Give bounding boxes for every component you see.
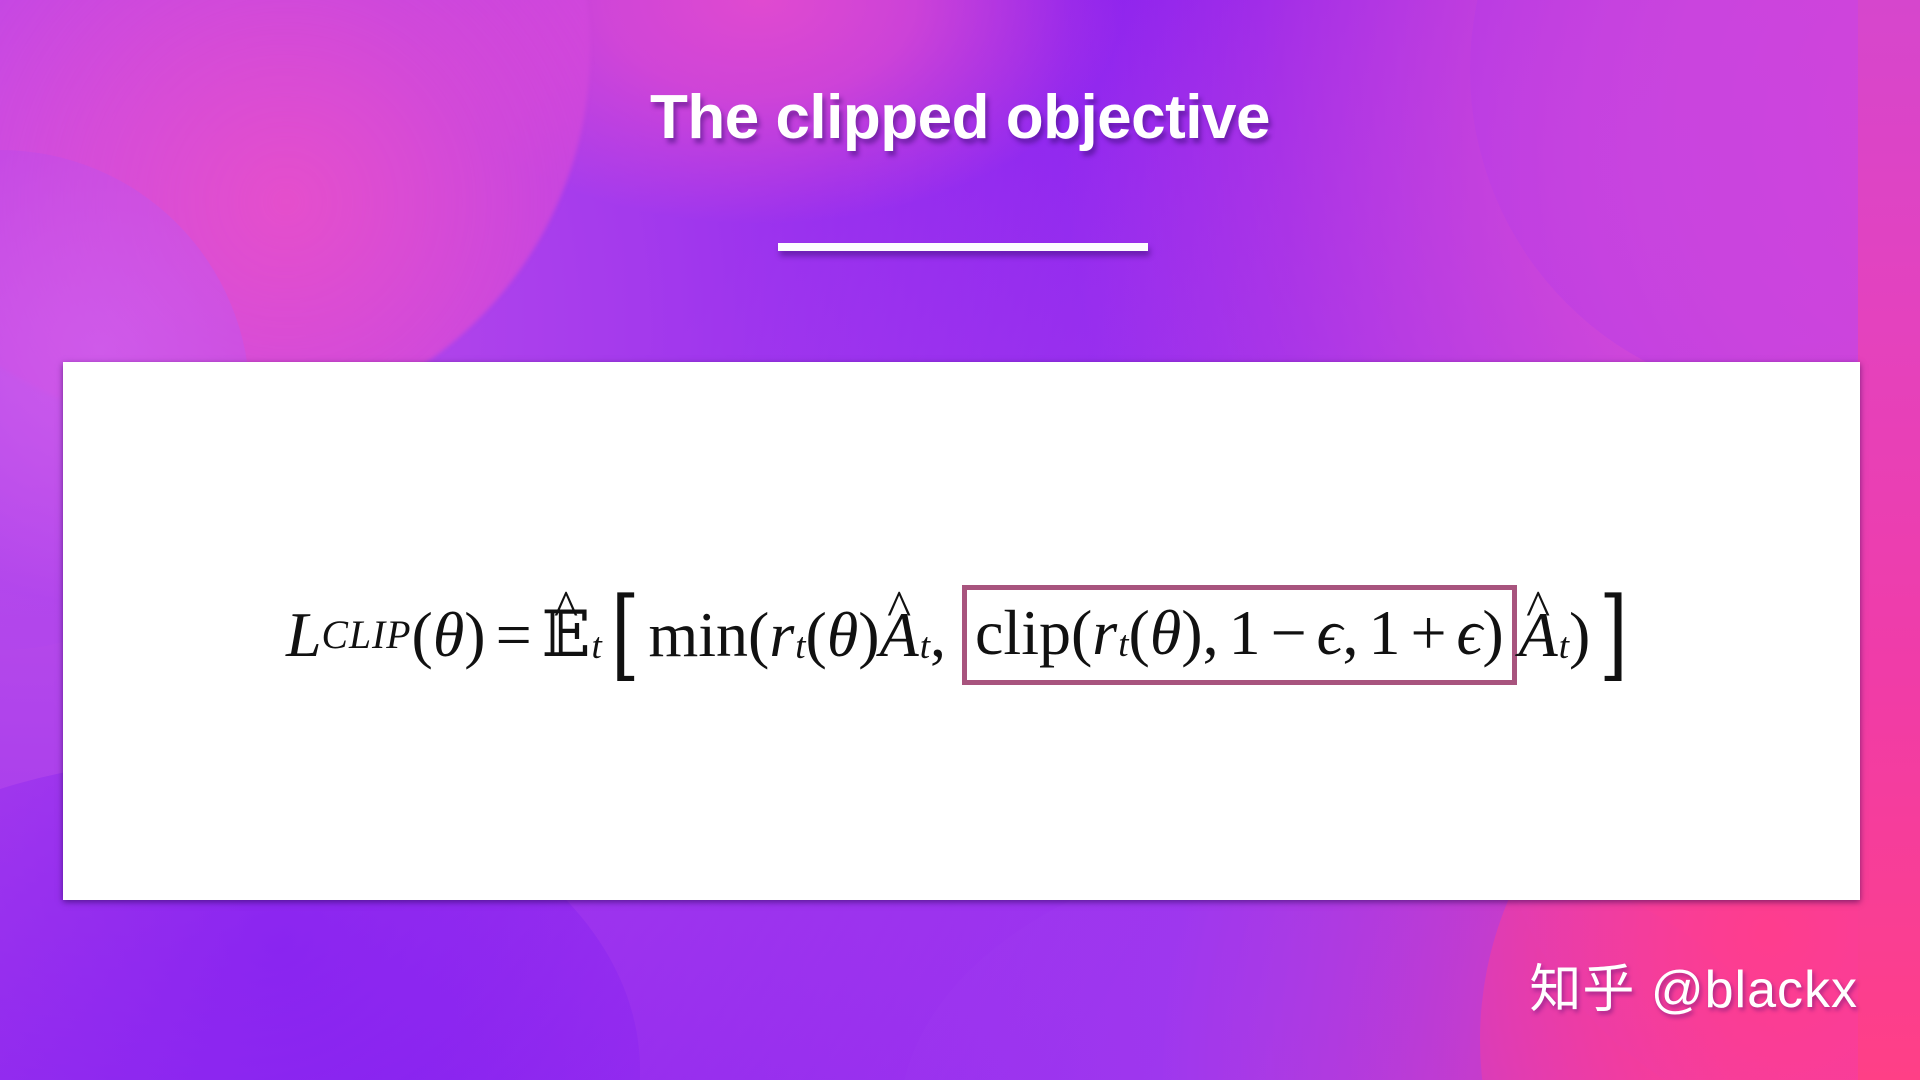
slide-canvas: The clipped objective LCLIP(θ) = ^𝔼t [ m… <box>0 0 1920 1080</box>
formula-lhs-close-paren: ) <box>464 598 485 672</box>
watermark-handle: @blackx <box>1651 961 1858 1019</box>
watermark-platform: 知乎 <box>1529 960 1635 1020</box>
expectation-hat-accent: ^ <box>554 583 578 634</box>
ratio-close-paren-1: ) <box>858 598 879 672</box>
formula-theta: θ <box>433 598 464 672</box>
clip-operator: clip <box>975 596 1071 670</box>
advantage-subscript-2: t <box>1559 625 1569 668</box>
clip-separator-1: , <box>1203 596 1219 670</box>
formula-loss-superscript: CLIP <box>322 612 412 658</box>
advantage-subscript-1: t <box>920 625 930 668</box>
formula-expectation-operator: ^𝔼 <box>542 598 591 672</box>
advantage-symbol-2: ^A <box>1519 598 1558 672</box>
ratio-theta-2: θ <box>1150 596 1181 670</box>
lower-bound-operator: − <box>1271 596 1307 670</box>
upper-bound-epsilon: ϵ <box>1457 596 1483 670</box>
formula-min-separator: , <box>930 598 946 672</box>
formula-lhs-open-paren: ( <box>412 598 433 672</box>
decorative-blob-top-right <box>1470 0 1920 400</box>
advantage-symbol-1: ^A <box>880 598 919 672</box>
advantage-hat-accent-1: ^ <box>887 583 911 634</box>
ratio-close-paren-2: ) <box>1181 596 1202 670</box>
ratio-subscript-2: t <box>1118 623 1128 666</box>
formula-min-operator: min <box>648 598 748 672</box>
ratio-subscript-1: t <box>795 625 805 668</box>
clip-separator-2: , <box>1342 596 1358 670</box>
ratio-theta-1: θ <box>827 598 858 672</box>
ratio-open-paren-2: ( <box>1129 596 1150 670</box>
clip-open-paren: ( <box>1071 596 1092 670</box>
ratio-symbol-2: r <box>1092 596 1117 670</box>
clipped-objective-formula: LCLIP(θ) = ^𝔼t [ min(rt(θ)^At, clip(rt(θ… <box>286 585 1637 685</box>
decorative-right-edge-band <box>1858 0 1920 1080</box>
advantage-hat-accent-2: ^ <box>1526 583 1550 634</box>
formula-min-open-paren: ( <box>748 598 769 672</box>
page-title: The clipped objective <box>0 84 1920 152</box>
formula-card: LCLIP(θ) = ^𝔼t [ min(rt(θ)^At, clip(rt(θ… <box>63 362 1860 900</box>
formula-bracket-close: ] <box>1599 595 1628 674</box>
expectation-subscript: t <box>591 625 601 668</box>
formula-bracket-open: [ <box>611 595 640 674</box>
ratio-open-paren-1: ( <box>806 598 827 672</box>
formula-equals-sign: = <box>496 598 532 672</box>
lower-bound-epsilon: ϵ <box>1317 596 1343 670</box>
formula-loss-symbol: L <box>286 598 322 672</box>
upper-bound-operator: + <box>1410 596 1446 670</box>
formula-min-close-paren: ) <box>1569 598 1590 672</box>
title-divider <box>778 243 1148 251</box>
lower-bound-one: 1 <box>1229 596 1261 670</box>
watermark: 知乎 @blackx <box>1529 947 1858 1022</box>
clip-close-paren: ) <box>1482 596 1503 670</box>
upper-bound-one: 1 <box>1368 596 1400 670</box>
clip-highlight-box: clip(rt(θ),1−ϵ,1+ϵ) <box>962 585 1517 685</box>
ratio-symbol-1: r <box>769 598 794 672</box>
